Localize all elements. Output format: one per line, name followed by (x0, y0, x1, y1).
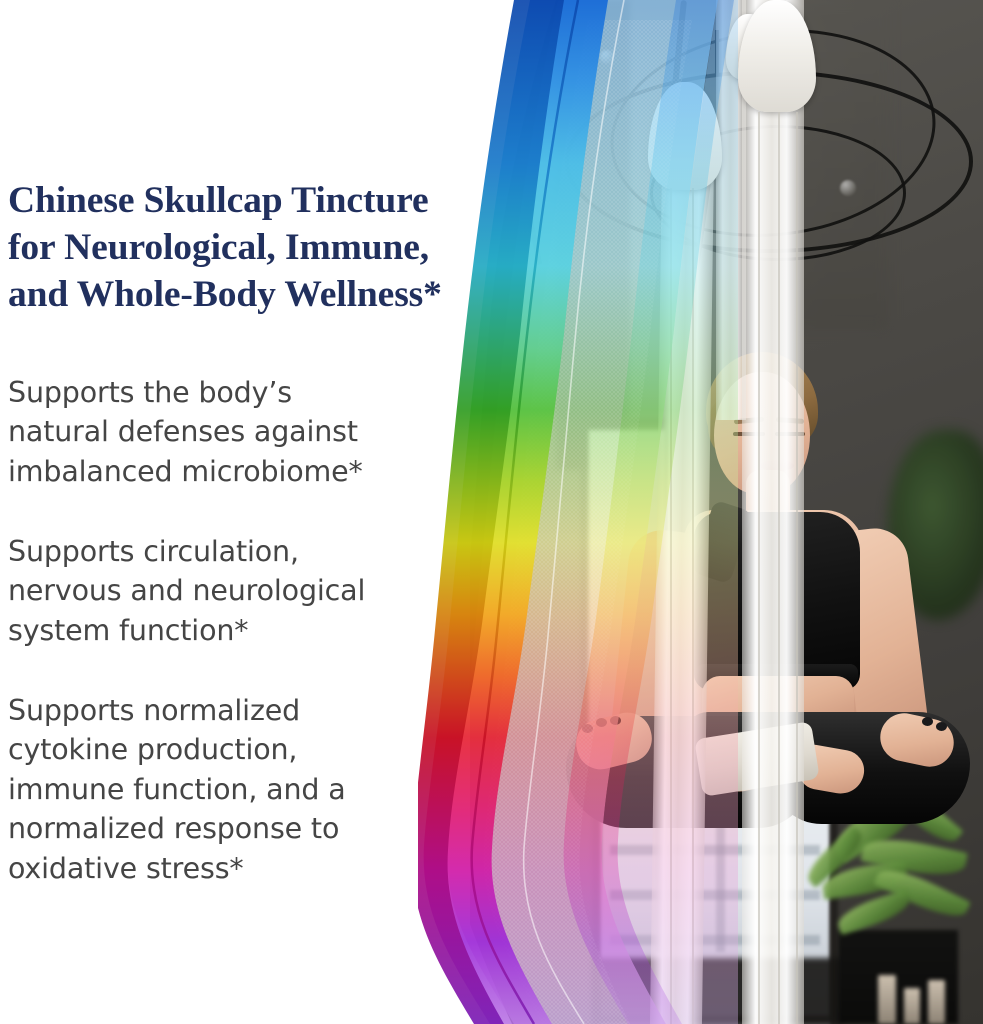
benefit-circulation: Supports circulation, nervous and neurol… (8, 532, 438, 651)
candle (928, 980, 945, 1024)
headline-line-3: and Whole-Body Wellness* (8, 274, 442, 315)
silk-fold-line (758, 112, 760, 1024)
benefit-line: natural defenses against (8, 415, 358, 448)
benefit-cytokine: Supports normalized cytokine production,… (8, 691, 438, 889)
benefit-line: Supports the body’s (8, 376, 292, 409)
text-column: Chinese Skullcap Tincture for Neurologic… (8, 0, 438, 1024)
benefit-line: cytokine production, (8, 733, 297, 766)
benefit-line: nervous and neurological (8, 574, 365, 607)
benefit-line: immune function, and a (8, 773, 346, 806)
benefit-microbiome: Supports the body’s natural defenses aga… (8, 373, 438, 492)
fingernail (596, 718, 607, 727)
headline-line-1: Chinese Skullcap Tincture (8, 180, 429, 221)
silk-fold-line (778, 112, 780, 1024)
fingernail (582, 724, 593, 733)
light-bulb-glow-2 (600, 50, 614, 64)
fingernail (610, 716, 621, 725)
benefit-line: normalized response to (8, 812, 339, 845)
fingernail (936, 722, 947, 731)
silk-fold-line (692, 188, 694, 1024)
benefit-line: Supports circulation, (8, 535, 299, 568)
benefit-line: Supports normalized (8, 694, 300, 727)
benefit-line: imbalanced microbiome* (8, 455, 363, 488)
infographic-canvas: Chinese Skullcap Tincture for Neurologic… (0, 0, 983, 1024)
aerial-yoga-photo (470, 0, 983, 1024)
light-bulb-glow-3 (840, 180, 856, 196)
window-sill-shadow (592, 958, 842, 1024)
benefit-line: system function* (8, 614, 248, 647)
silk-fold-line (670, 188, 672, 1024)
candle (904, 988, 920, 1024)
headline-line-2: for Neurological, Immune, (8, 227, 429, 268)
benefit-line: oxidative stress* (8, 852, 244, 885)
page-title: Chinese Skullcap Tincture for Neurologic… (8, 177, 568, 318)
aerial-silk-right (742, 0, 804, 1024)
candle (878, 975, 896, 1024)
silk-fold-line (796, 112, 798, 1024)
fingernail (922, 717, 933, 726)
